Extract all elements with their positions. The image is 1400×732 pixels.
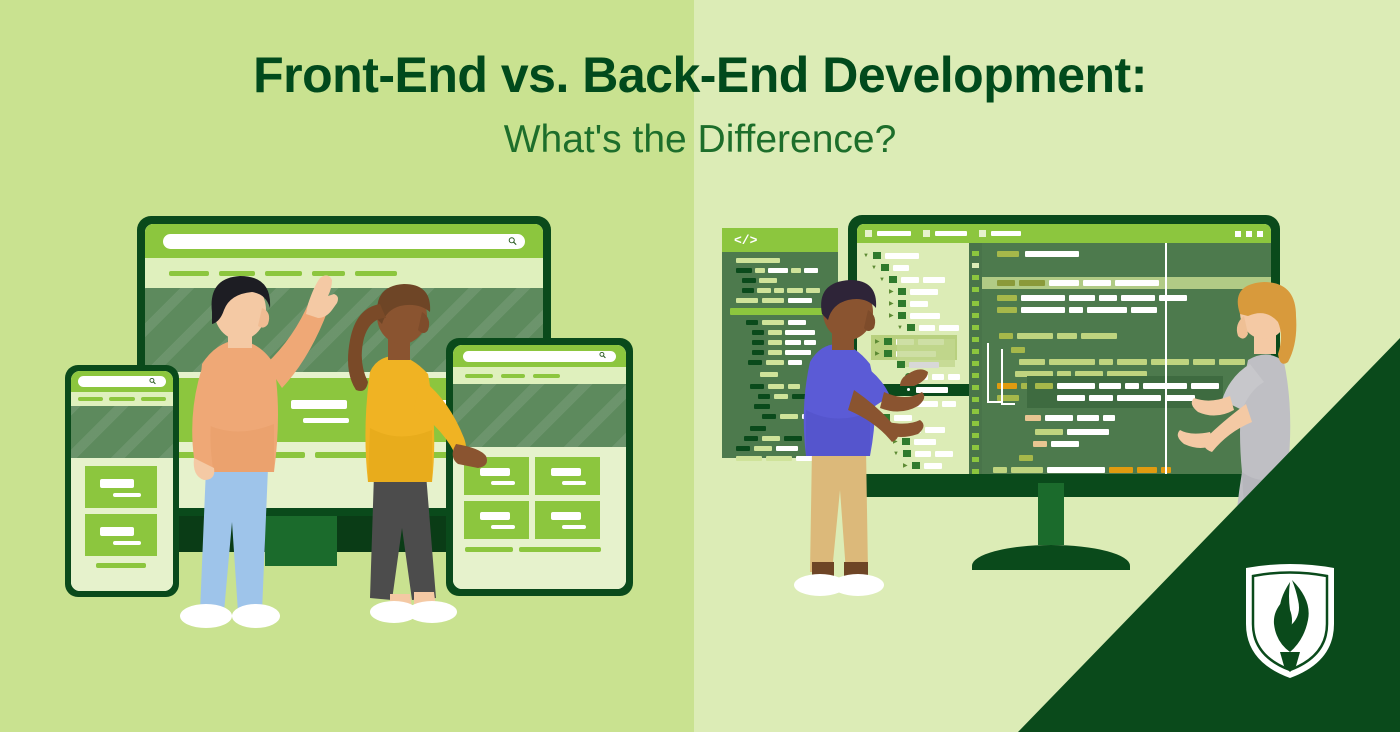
code-token [1099,359,1113,365]
rasmussen-shield-flame-logo [1242,562,1338,680]
phone-content-area [71,458,173,591]
footer-line [96,563,146,568]
nav-item[interactable] [78,397,103,401]
code-token [1099,295,1117,301]
person-blue-shirt [788,280,928,620]
code-token-keyword [1109,467,1133,473]
code-token [1069,295,1095,301]
tree-item-label [942,401,956,407]
code-token [1017,333,1053,339]
code-token [1057,383,1095,389]
card-title-line [100,527,134,536]
card-sub-line [491,481,515,485]
card-sub-line [113,541,141,545]
shoe [180,604,232,628]
editor-tab[interactable] [923,230,967,237]
card-sub-line [562,481,586,485]
tree-item-label [885,253,919,259]
code-token [1117,395,1161,401]
code-token [1165,395,1195,401]
code-token [1069,307,1083,313]
code-fold-rail [1001,403,1015,405]
tree-item-label [935,451,953,457]
phone-toolbar [71,371,173,392]
code-token [1011,347,1025,353]
code-token-string [1025,415,1041,421]
maximize-icon[interactable] [1246,231,1252,237]
code-token [1115,280,1159,286]
code-token [1045,415,1073,421]
person-ponytail [340,278,490,628]
code-token [1019,280,1045,286]
code-token [1057,333,1077,339]
code-token-string [1033,441,1047,447]
search-icon [508,237,517,246]
footer-line [519,547,601,552]
code-token [1103,415,1115,421]
code-token [997,251,1019,257]
code-tag-icon: </> [734,233,757,248]
nav-item[interactable] [109,397,134,401]
code-token [1159,295,1187,301]
code-token [999,333,1013,339]
code-token-keyword [1137,467,1157,473]
card-title-line [551,512,581,520]
code-token [1083,280,1111,286]
file-icon [979,230,986,237]
minimize-icon[interactable] [1235,231,1241,237]
close-icon[interactable] [1257,231,1263,237]
editor-tab[interactable] [979,230,1021,237]
hand-upper [900,369,928,386]
code-token [1151,359,1189,365]
code-fold-rail [987,343,989,403]
hand-right [453,444,487,468]
code-token [1019,359,1045,365]
code-token [997,295,1017,301]
chevron-down-icon: ▼ [863,253,869,259]
tree-item-label [939,325,959,331]
code-token [1099,383,1121,389]
code-token [1087,307,1127,313]
tree-item-label [893,265,909,271]
hand-pointing [306,275,338,318]
code-token [1081,333,1117,339]
code-token [1117,359,1147,365]
search-input[interactable] [163,234,525,249]
nav-item[interactable] [501,374,525,378]
nav-item[interactable] [141,397,166,401]
search-icon [149,377,158,386]
nav-item[interactable] [533,374,560,378]
hand-lower [886,420,924,437]
folder-icon [881,264,889,271]
card-sub-line [113,493,141,497]
code-token [1121,295,1155,301]
code-token [1021,307,1065,313]
editor-minimap-divider [1165,243,1167,474]
code-token [1049,280,1079,286]
tree-item-label [948,374,960,380]
code-token [1057,395,1085,401]
card-sub-line [562,525,586,529]
code-token [1077,415,1099,421]
folder-icon [873,252,881,259]
code-token [1131,307,1157,313]
trousers [370,474,436,600]
code-token [1051,441,1079,447]
code-token-keyword [997,383,1017,389]
shoe [832,574,884,596]
code-token [1049,359,1095,365]
phone-nav-strip [71,392,173,406]
code-token [997,307,1017,313]
code-token [1019,455,1033,461]
file-icon [923,230,930,237]
code-panel-header: </> [722,228,838,252]
card-sub-line [491,525,515,529]
code-token [1047,467,1105,473]
nav-item[interactable] [355,271,397,276]
code-token [1025,251,1079,257]
line-number-gutter [969,243,982,474]
code-token [1089,395,1113,401]
banner-canvas: Front-End vs. Back-End Development: What… [0,0,1400,732]
code-token [993,467,1007,473]
arm-upper [880,392,924,412]
tab-label [991,231,1021,236]
card-title-line [551,468,581,476]
tab-label [935,231,967,236]
code-token [997,280,1015,286]
hero-image-placeholder [71,406,173,458]
editor-tab-bar [857,224,1271,243]
code-token [1021,295,1065,301]
tree-item[interactable]: ▼ [871,264,909,271]
code-token [1035,429,1063,435]
file-icon [865,230,872,237]
code-token [1067,429,1109,435]
tree-item-label [932,374,944,380]
tab-label [877,231,911,236]
search-icon [599,352,608,361]
person-pointing [182,272,352,632]
code-token [1011,467,1043,473]
front-end-illustration [0,0,700,732]
monitor-stand-base [972,545,1130,570]
editor-tab[interactable] [865,230,911,237]
browser-toolbar [145,224,543,258]
content-card[interactable] [535,501,600,539]
trousers [200,468,268,612]
content-card[interactable] [535,457,600,495]
shoe [407,601,457,623]
chevron-down-icon: ▼ [871,265,877,271]
code-fold-rail [1001,349,1003,405]
shoe [232,604,280,628]
code-token [1035,383,1053,389]
trousers [810,448,868,572]
phone-mockup [65,365,179,597]
tree-item[interactable]: ▼ [863,252,919,259]
card-title-line [100,479,134,488]
code-token [1125,383,1139,389]
monitor-stand-neck [1038,483,1064,545]
search-input[interactable] [78,376,166,387]
window-controls[interactable] [1235,231,1263,237]
